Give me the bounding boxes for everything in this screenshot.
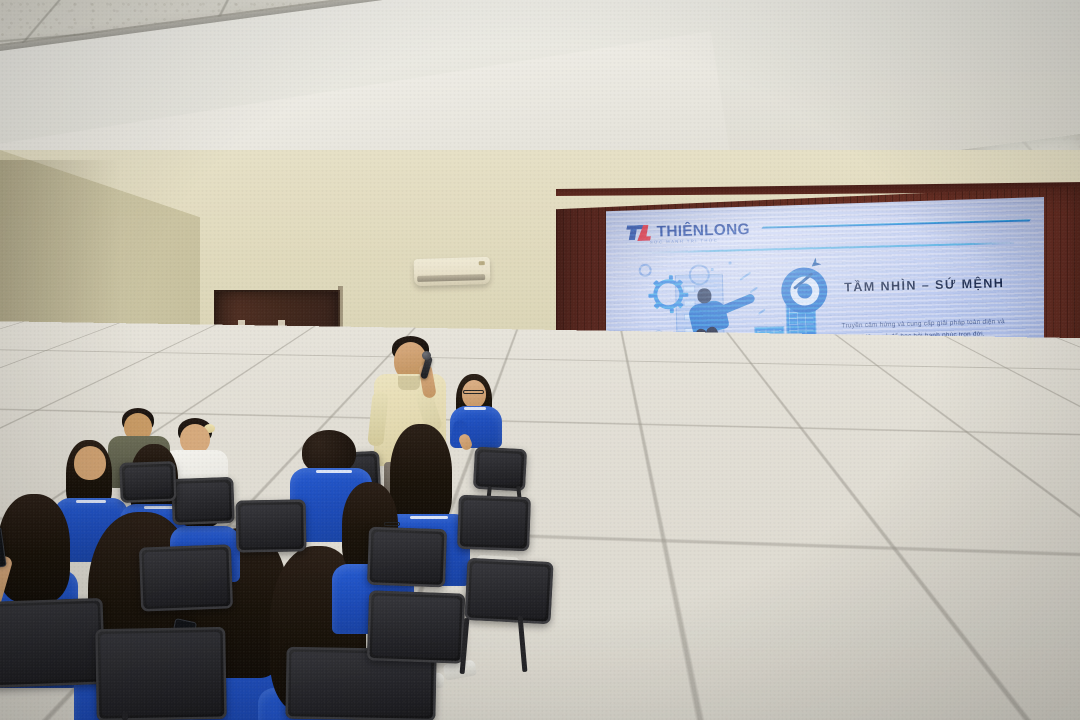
- glasses-icon: [904, 422, 928, 431]
- chair-leg: [122, 712, 128, 720]
- black-stacking-chair[interactable]: [236, 499, 307, 552]
- hair: [390, 424, 452, 528]
- black-stacking-chair[interactable]: [139, 544, 233, 611]
- black-stacking-chair[interactable]: [171, 477, 235, 525]
- hair: [0, 494, 70, 602]
- black-stacking-chair[interactable]: [1037, 487, 1080, 555]
- host-head: [462, 380, 486, 408]
- black-stacking-chair[interactable]: [473, 447, 527, 492]
- black-stacking-chair[interactable]: [457, 495, 531, 551]
- collar: [76, 500, 106, 503]
- black-stacking-chair[interactable]: [928, 558, 1053, 654]
- black-stacking-chair[interactable]: [0, 598, 105, 688]
- head: [1022, 400, 1068, 442]
- black-stacking-chair[interactable]: [119, 461, 176, 503]
- sneaker: [1007, 681, 1048, 704]
- presenter-collar: [398, 376, 420, 390]
- black-stacking-chair[interactable]: [367, 527, 447, 588]
- head: [74, 446, 106, 480]
- black-stacking-chair[interactable]: [95, 627, 227, 720]
- collar: [316, 470, 352, 473]
- mic-stand-pole: [556, 424, 560, 510]
- conference-room-photo: THIÊNLONG SỨC MẠNH TRI THỨC: [0, 0, 1080, 720]
- wall-split-air-conditioner: [414, 257, 491, 286]
- black-stacking-chair[interactable]: [464, 558, 553, 624]
- host-glasses-icon: [463, 390, 484, 394]
- collar: [410, 516, 448, 519]
- ac-indicator-icon: [479, 261, 485, 265]
- collar: [988, 526, 1042, 531]
- keyboard-tray: [226, 436, 302, 450]
- ac-vent-louver: [417, 274, 485, 282]
- glasses-icon: [384, 522, 400, 526]
- black-stacking-chair[interactable]: [873, 484, 967, 555]
- host-collar: [464, 407, 486, 410]
- microphone-head: [422, 351, 431, 360]
- black-stacking-chair[interactable]: [367, 590, 465, 663]
